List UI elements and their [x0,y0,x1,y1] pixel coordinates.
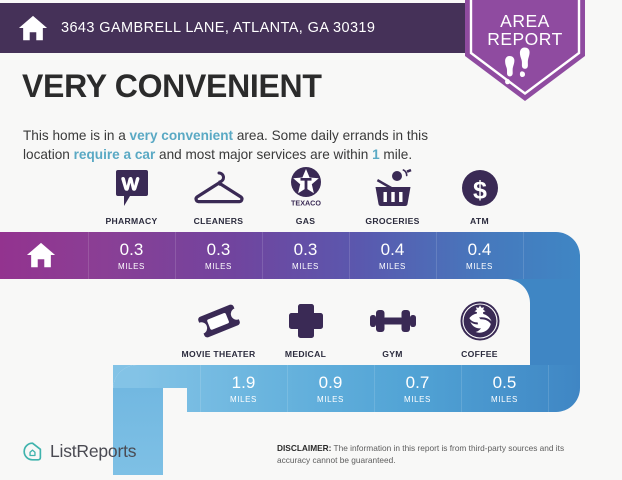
category-groceries: GROCERIES [349,165,436,226]
category-icon-row-1: PHARMACY CLEANERS TEXACO GAS [88,165,523,226]
listreports-house-icon [22,441,43,462]
segment-divider [548,365,549,412]
segment-divider [175,232,176,279]
svg-text:$: $ [473,177,487,205]
walgreens-w-icon [114,165,150,211]
subtitle-text: This home is in a very convenient area. … [23,126,453,165]
area-report-page: 3643 GAMBRELL LANE, ATLANTA, GA 30319 AR… [0,0,622,480]
dollar-circle-icon: $ [460,165,500,211]
segment-divider [287,365,288,412]
address-bar: 3643 GAMBRELL LANE, ATLANTA, GA 30319 [0,3,470,53]
texaco-star-icon: TEXACO [286,165,326,211]
segment-divider [523,232,524,279]
subtitle-highlight-2: require a car [74,147,156,162]
subtitle-part3: and most major services are within [155,147,372,162]
shopping-basket-icon [370,165,416,211]
segment-divider [461,365,462,412]
segment-divider [374,365,375,412]
subtitle-highlight-1: very convenient [130,128,234,143]
subtitle-part4: mile. [380,147,412,162]
segment-divider [349,232,350,279]
ribbon-row2 [137,365,580,412]
listreports-logo-text: ListReports [50,441,136,462]
subtitle-part1: This home is in a [23,128,130,143]
category-gas: TEXACO GAS [262,165,349,226]
segment-divider [262,232,263,279]
badge-shield-shape [465,0,585,108]
disclaimer: DISCLAIMER: The information in this repo… [277,442,597,467]
area-report-badge: AREA REPORT [465,0,585,108]
address-text: 3643 GAMBRELL LANE, ATLANTA, GA 30319 [61,20,375,36]
distance-ribbon [0,225,622,475]
disclaimer-label: DISCLAIMER: [277,443,331,453]
segment-divider [436,232,437,279]
segment-divider [88,232,89,279]
home-icon [18,13,48,43]
category-cleaners: CLEANERS [175,165,262,226]
page-title: VERY CONVENIENT [22,68,322,105]
subtitle-highlight-3: 1 [372,147,380,162]
listreports-logo[interactable]: ListReports [22,441,136,462]
clothes-hanger-icon [193,165,245,211]
ribbon-row1 [0,232,580,279]
segment-divider [200,365,201,412]
ribbon-home-icon [26,240,56,270]
category-pharmacy: PHARMACY [88,165,175,226]
svg-text:TEXACO: TEXACO [291,199,321,208]
category-atm: $ ATM [436,165,523,226]
